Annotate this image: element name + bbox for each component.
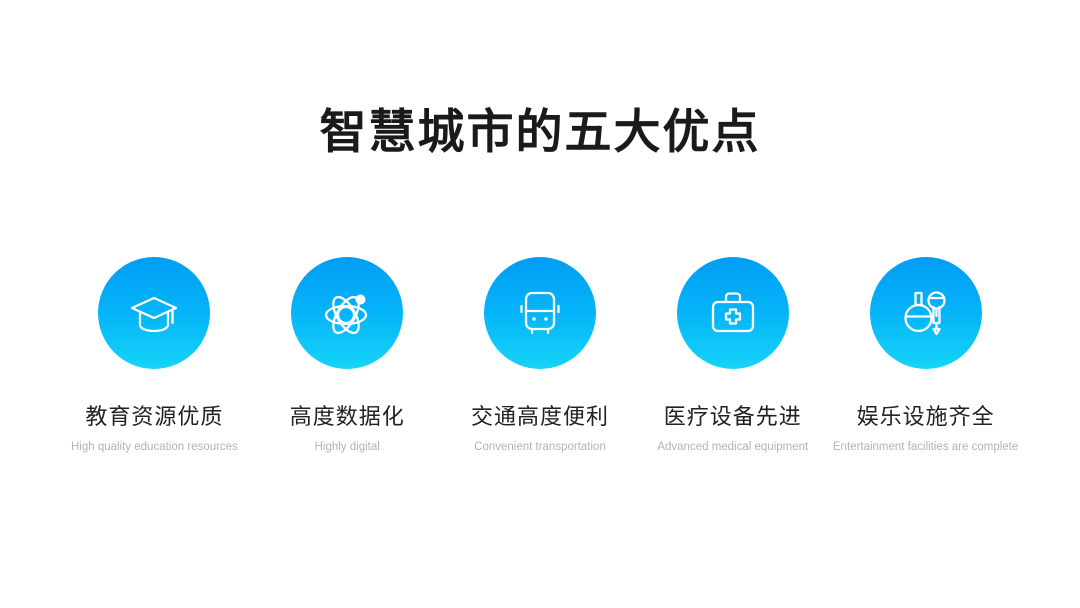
icon-circle-education bbox=[98, 257, 210, 369]
page-title: 智慧城市的五大优点 bbox=[0, 104, 1080, 160]
medical-kit-icon bbox=[705, 285, 761, 341]
benefit-subtitle: High quality education resources bbox=[71, 440, 238, 455]
icon-circle-transport bbox=[484, 257, 596, 369]
benefit-subtitle: Advanced medical equipment bbox=[657, 440, 808, 455]
atom-icon bbox=[319, 285, 375, 341]
benefit-title: 教育资源优质 bbox=[85, 403, 223, 431]
icon-circle-data bbox=[291, 257, 403, 369]
benefit-subtitle: Highly digital bbox=[315, 440, 380, 455]
benefit-title: 高度数据化 bbox=[290, 403, 405, 431]
slide-root: 智慧城市的五大优点 教育资源优质 High quality education … bbox=[0, 0, 1080, 608]
benefit-title: 医疗设备先进 bbox=[664, 403, 802, 431]
icon-circle-medical bbox=[677, 257, 789, 369]
bus-icon bbox=[512, 285, 568, 341]
benefit-card-list: 教育资源优质 High quality education resources … bbox=[58, 257, 1022, 454]
benefit-title: 娱乐设施齐全 bbox=[857, 403, 995, 431]
benefit-card-entertainment[interactable]: 娱乐设施齐全 Entertainment facilities are comp… bbox=[829, 257, 1022, 454]
benefit-title: 交通高度便利 bbox=[471, 403, 609, 431]
benefit-card-data[interactable]: 高度数据化 Highly digital bbox=[251, 257, 444, 454]
benefit-card-transport[interactable]: 交通高度便利 Convenient transportation bbox=[444, 257, 637, 454]
benefit-subtitle: Entertainment facilities are complete bbox=[833, 440, 1018, 455]
benefit-card-medical[interactable]: 医疗设备先进 Advanced medical equipment bbox=[636, 257, 829, 454]
benefit-subtitle: Convenient transportation bbox=[474, 440, 606, 455]
benefit-card-education[interactable]: 教育资源优质 High quality education resources bbox=[58, 257, 251, 454]
entertainment-icon bbox=[898, 285, 954, 341]
graduation-cap-icon bbox=[126, 285, 182, 341]
icon-circle-entertainment bbox=[870, 257, 982, 369]
